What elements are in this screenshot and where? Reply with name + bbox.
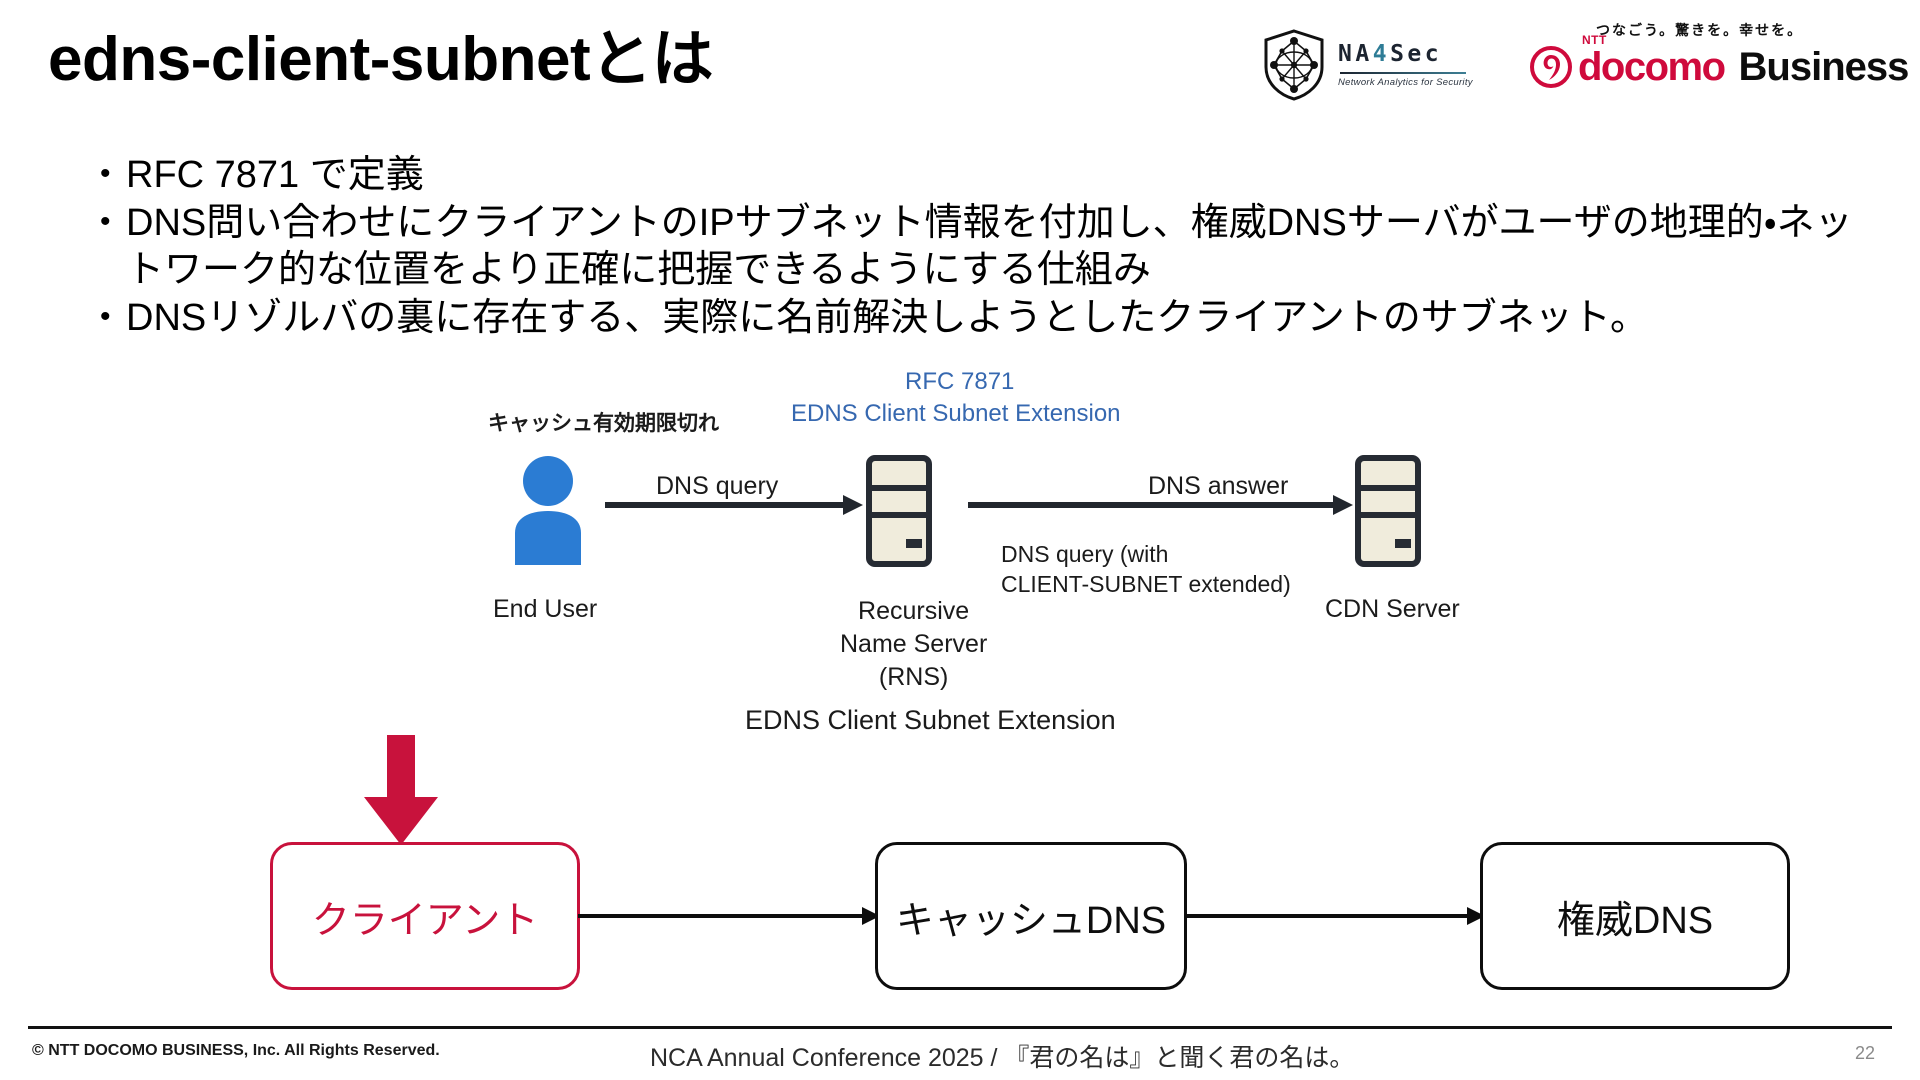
docomo-ntt-mark: NTT: [1582, 34, 1607, 46]
end-user-label: End User: [493, 595, 597, 624]
docomo-wordmark: NTTdocomo: [1578, 47, 1725, 87]
docomo-business-logo: つなごう。驚きを。幸せを。 NTTdocomo Business: [1530, 20, 1900, 104]
bullet-item-3: • DNSリゾルバの裏に存在する、実際に名前解決しようとしたクライアントのサブネ…: [100, 295, 1890, 341]
dns-query-label: DNS query: [656, 472, 778, 501]
flow-box-authoritative-dns[interactable]: 権威DNS: [1480, 842, 1790, 990]
flow-box-cache-dns-label: キャッシュDNS: [896, 889, 1166, 944]
na4sec-name-accent: 4: [1373, 41, 1390, 67]
na4sec-logo: NA4Sec Network Analytics for Security: [1262, 26, 1472, 104]
page-title: edns-client-subnetとは: [48, 24, 713, 95]
slide-canvas: edns-client-subnetとは NA4Sec Network Anal…: [0, 0, 1920, 1080]
rns-label-line3: (RNS): [840, 661, 987, 694]
footer-copyright: © NTT DOCOMO BUSINESS, Inc. All Rights R…: [32, 1042, 440, 1060]
docomo-business-text: Business: [1739, 47, 1909, 87]
rns-label-line1: Recursive: [840, 595, 987, 628]
na4sec-divider: [1340, 72, 1466, 74]
na4sec-wordmark: NA4Sec Network Analytics for Security: [1338, 43, 1473, 88]
page-number: 22: [1855, 1043, 1875, 1064]
bullet-marker: •: [100, 200, 126, 244]
red-down-arrow-icon: [360, 735, 442, 845]
docomo-tagline: つなごう。驚きを。幸せを。: [1596, 20, 1803, 40]
ecs-bottom-caption: EDNS Client Subnet Extension: [745, 705, 1116, 736]
recursive-name-server-icon: [866, 455, 932, 567]
recursive-name-server-label: Recursive Name Server (RNS): [840, 595, 987, 694]
bullet-item-2: • DNS問い合わせにクライアントのIPサブネット情報を付加し、権威DNSサーバ…: [100, 200, 1890, 293]
shield-icon: [1262, 29, 1326, 101]
na4sec-name-suffix: Sec: [1390, 41, 1442, 67]
end-user-icon: [510, 455, 586, 565]
ecs-extension-label: EDNS Client Subnet Extension: [791, 400, 1121, 428]
flow-arrow-cache-to-auth-icon: [1185, 903, 1485, 929]
dns-query-extended-line1: DNS query (with: [1001, 539, 1291, 569]
cache-expire-label: キャッシュ有効期限切れ: [488, 407, 719, 437]
bullet-text: DNSリゾルバの裏に存在する、実際に名前解決しようとしたクライアントのサブネット…: [126, 295, 1890, 341]
dns-query-extended-label: DNS query (with CLIENT-SUBNET extended): [1001, 539, 1291, 600]
dns-query-extended-line2: CLIENT-SUBNET extended): [1001, 569, 1291, 599]
rfc-7871-label: RFC 7871: [905, 368, 1014, 396]
bullet-marker: •: [100, 152, 126, 196]
flow-box-client-label: クライアント: [312, 889, 538, 944]
flow-box-client[interactable]: クライアント: [270, 842, 580, 990]
bullet-text: RFC 7871 で定義: [126, 152, 1890, 198]
bullet-list: • RFC 7871 で定義 • DNS問い合わせにクライアントのIPサブネット…: [100, 152, 1890, 343]
docomo-mark-row: NTTdocomo Business: [1530, 46, 1908, 88]
bullet-item-1: • RFC 7871 で定義: [100, 152, 1890, 198]
docomo-word-text: docomo: [1578, 45, 1725, 89]
footer-conference-title: NCA Annual Conference 2025 / 『君の名は』と聞く君の…: [650, 1038, 1354, 1074]
cdn-server-icon: [1355, 455, 1421, 567]
docomo-d-mark-icon: [1530, 46, 1572, 88]
flow-box-authoritative-dns-label: 権威DNS: [1557, 889, 1713, 944]
flow-box-cache-dns[interactable]: キャッシュDNS: [875, 842, 1187, 990]
rns-label-line2: Name Server: [840, 628, 987, 661]
na4sec-name: NA4Sec: [1338, 43, 1442, 66]
dns-answer-label: DNS answer: [1148, 472, 1288, 501]
na4sec-tagline: Network Analytics for Security: [1338, 77, 1473, 88]
footer-divider: [28, 1026, 1892, 1029]
flow-arrow-client-to-cache-icon: [578, 903, 880, 929]
cdn-server-label: CDN Server: [1325, 595, 1460, 624]
bullet-text: DNS問い合わせにクライアントのIPサブネット情報を付加し、権威DNSサーバがユ…: [126, 200, 1890, 293]
bullet-marker: •: [100, 295, 126, 339]
na4sec-name-prefix: NA: [1338, 41, 1373, 67]
